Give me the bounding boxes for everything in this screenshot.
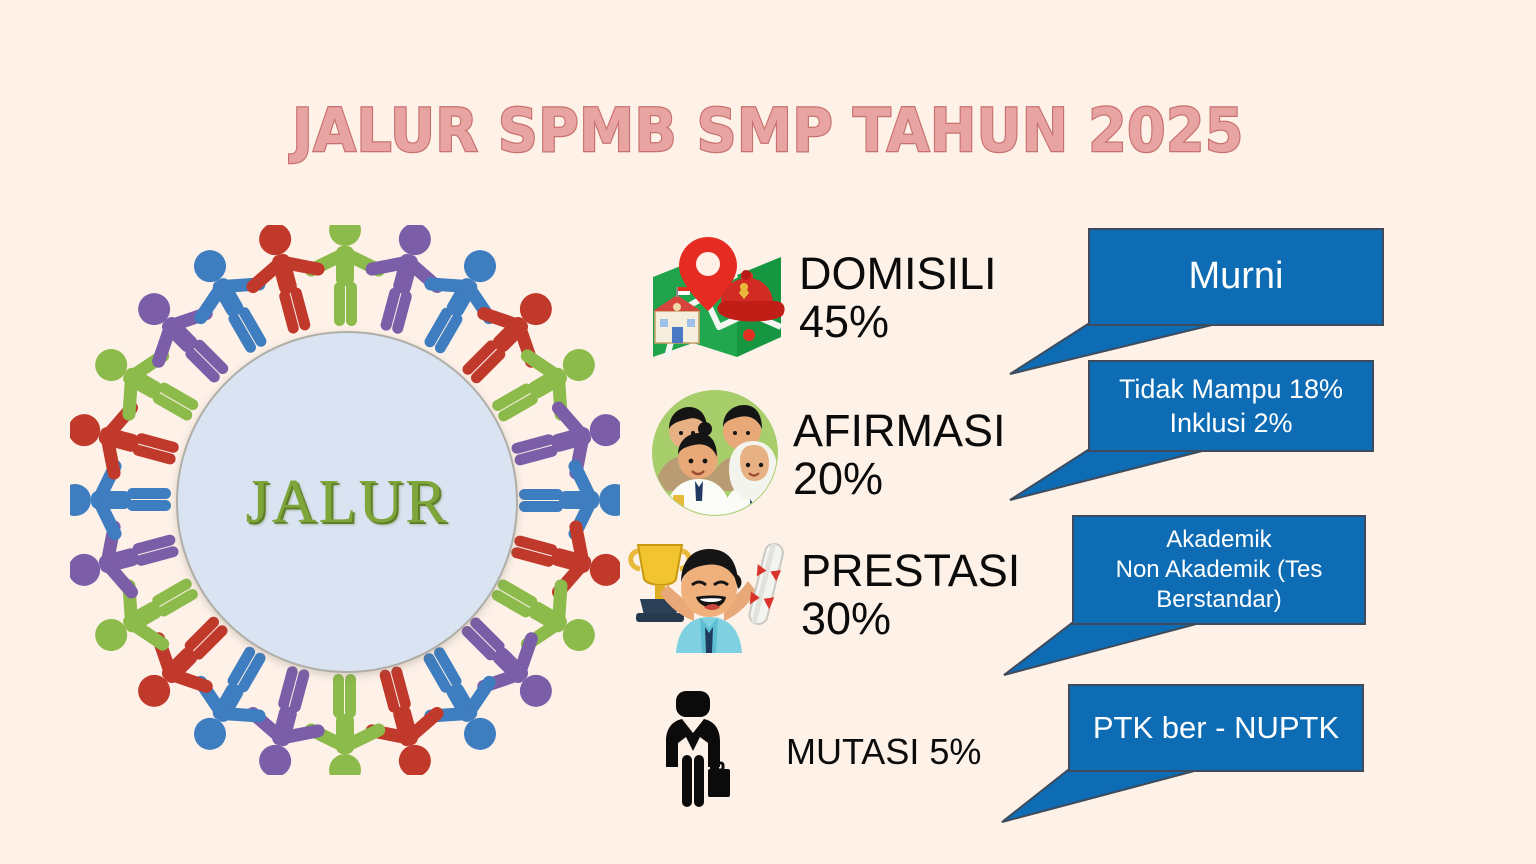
jalur-inner-circle: JALUR (176, 331, 518, 673)
callout-tail-icon (1006, 444, 1336, 514)
callout-tail-icon (1000, 617, 1330, 687)
jalur-label-mutasi: MUTASI 5% (786, 733, 981, 771)
callout-mutasi: PTK ber - NUPTK (1068, 684, 1364, 772)
jalur-label-prestasi: PRESTASI 30% (801, 547, 1020, 642)
callout-prestasi-text: Akademik Non Akademik (Tes Berstandar) (1072, 515, 1366, 625)
callout-murni: Murni (1088, 228, 1384, 326)
jalur-circle-graphic: JALUR (70, 225, 620, 775)
callout-afirmasi-text: Tidak Mampu 18% Inklusi 2% (1088, 360, 1374, 452)
callout-afirmasi: Tidak Mampu 18% Inklusi 2% (1088, 360, 1374, 452)
students-group-icon (645, 383, 785, 528)
student-trophy-diploma-icon (620, 533, 795, 658)
callout-prestasi: Akademik Non Akademik (Tes Berstandar) (1072, 515, 1366, 625)
callout-murni-text: Murni (1088, 228, 1384, 326)
callout-mutasi-text: PTK ber - NUPTK (1068, 684, 1364, 772)
jalur-center-label: JALUR (246, 467, 449, 538)
page-title: JALUR SPMB SMP TAHUN 2025 (61, 96, 1474, 166)
businessman-briefcase-silhouette-icon (660, 689, 738, 816)
map-location-school-icon (645, 231, 795, 366)
callout-tail-icon (998, 764, 1328, 834)
jalur-row-prestasi: PRESTASI 30% (620, 530, 1050, 660)
infographic-canvas: JALUR SPMB SMP TAHUN 2025 (0, 0, 1536, 864)
